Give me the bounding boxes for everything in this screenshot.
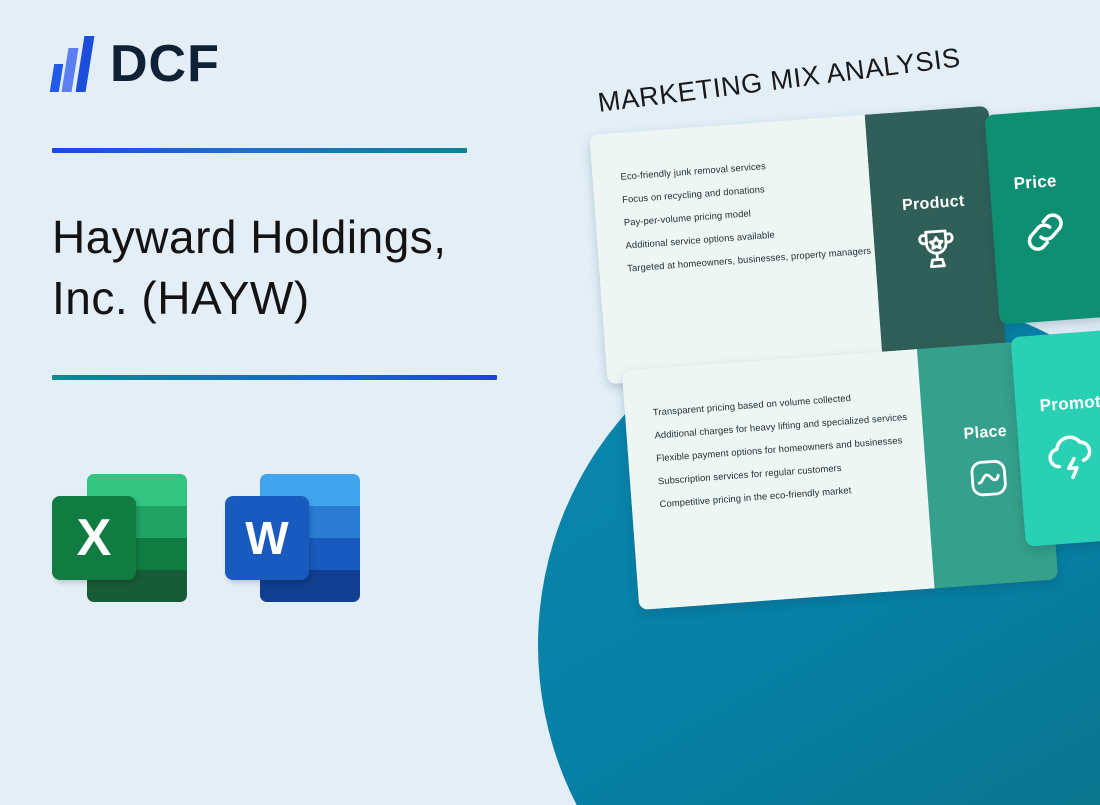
download-icons: X W [52,470,512,605]
word-file-icon[interactable]: W [225,470,360,605]
card-place-label: Place [963,423,1008,444]
brand-name: DCF [110,38,220,90]
excel-letter: X [52,496,136,580]
list-item: Competitive pricing in the eco-friendly … [659,479,917,509]
list-item: Pay-per-volume pricing model [623,199,861,227]
card-place-bullets: Transparent pricing based on volume coll… [622,349,935,610]
cloud-lightning-icon [1041,424,1100,484]
divider-top [52,148,467,153]
tile-price[interactable]: Price [985,101,1100,324]
tile-promotion-label: Promotion [1039,390,1100,416]
brand-header[interactable]: DCF [52,30,512,98]
list-item: Targeted at homeowners, businesses, prop… [627,245,865,273]
trophy-icon [909,221,965,277]
card-product[interactable]: Eco-friendly junk removal services Focus… [589,106,1006,385]
card-product-body: Eco-friendly junk removal services Focus… [589,115,883,385]
list-item: Eco-friendly junk removal services [620,153,858,181]
card-product-bullets: Eco-friendly junk removal services Focus… [589,115,883,385]
card-product-panel: Product [865,106,1007,364]
card-board: Eco-friendly junk removal services Focus… [520,0,1100,805]
left-column: DCF Hayward Holdings, Inc. (HAYW) X W [52,30,512,775]
excel-file-icon[interactable]: X [52,470,187,605]
list-item: Focus on recycling and donations [622,176,860,204]
bar-chart-logo-icon [52,36,96,92]
list-item: Additional service options available [625,222,863,250]
card-product-label: Product [902,193,966,216]
word-letter: W [225,496,309,580]
tile-price-label: Price [1013,171,1057,194]
page-root: DCF Hayward Holdings, Inc. (HAYW) X W [0,0,1100,805]
activity-square-icon [961,450,1017,506]
card-place[interactable]: Transparent pricing based on volume coll… [622,340,1058,610]
link-chain-icon [1015,202,1075,262]
divider-bottom [52,375,497,380]
marketing-mix-graphic: MARKETING MIX ANALYSIS Eco-friendly junk… [520,0,1100,805]
divider-bottom-wrap [52,375,512,380]
card-place-body: Transparent pricing based on volume coll… [622,349,935,610]
tile-promotion[interactable]: Promotion [1011,323,1100,546]
page-title: Hayward Holdings, Inc. (HAYW) [52,207,482,329]
